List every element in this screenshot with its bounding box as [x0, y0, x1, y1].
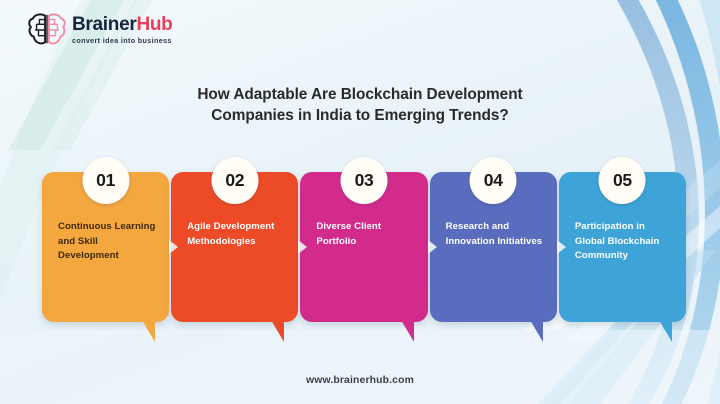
title-line-1: How Adaptable Are Blockchain Development [197, 86, 522, 103]
bottom-wash [0, 330, 720, 404]
step-card-04[interactable]: 04 Research and Innovation Initiatives [430, 172, 557, 322]
page-title: How Adaptable Are Blockchain Development… [0, 84, 720, 127]
logo-wordmark: BrainerHub [72, 15, 172, 34]
step-card-03[interactable]: 03 Diverse Client Portfolio [300, 172, 427, 322]
card-tail-05 [659, 320, 672, 342]
step-badge-04: 04 [470, 157, 517, 204]
step-card-02[interactable]: 02 Agile Development Methodologies [171, 172, 298, 322]
steps-row: 01 Continuous Learning and Skill Develop… [42, 172, 686, 322]
step-badge-05: 05 [599, 157, 646, 204]
card-tail-01 [142, 320, 155, 342]
card-tail-04 [530, 320, 543, 342]
logo-text: BrainerHub convert idea into business [72, 15, 172, 44]
blue-arc-edge [690, 0, 720, 404]
logo-name-primary: Brainer [72, 14, 136, 35]
arrow-connector-04 [557, 240, 566, 254]
arrow-connector-02 [298, 240, 307, 254]
step-badge-01: 01 [82, 157, 129, 204]
step-label-05: Participation in Global Blockchain Commu… [575, 220, 675, 264]
step-card-01[interactable]: 01 Continuous Learning and Skill Develop… [42, 172, 169, 322]
logo-name-accent: Hub [136, 14, 172, 35]
step-label-03: Diverse Client Portfolio [316, 220, 416, 249]
card-tail-03 [401, 320, 414, 342]
infographic-canvas: BrainerHub convert idea into business Ho… [0, 0, 720, 404]
card-tail-02 [271, 320, 284, 342]
arrow-connector-03 [428, 240, 437, 254]
logo-tagline: convert idea into business [72, 37, 172, 44]
step-label-02: Agile Development Methodologies [187, 220, 287, 249]
footer-website[interactable]: www.brainerhub.com [0, 375, 720, 386]
arrow-connector-01 [169, 240, 178, 254]
brand-logo[interactable]: BrainerHub convert idea into business [28, 12, 172, 48]
step-badge-02: 02 [211, 157, 258, 204]
step-label-04: Research and Innovation Initiatives [446, 220, 546, 249]
brain-icon [28, 12, 66, 48]
step-label-01: Continuous Learning and Skill Developmen… [58, 220, 158, 264]
title-line-2: Companies in India to Emerging Trends? [211, 107, 508, 124]
step-card-05[interactable]: 05 Participation in Global Blockchain Co… [559, 172, 686, 322]
step-badge-03: 03 [341, 157, 388, 204]
